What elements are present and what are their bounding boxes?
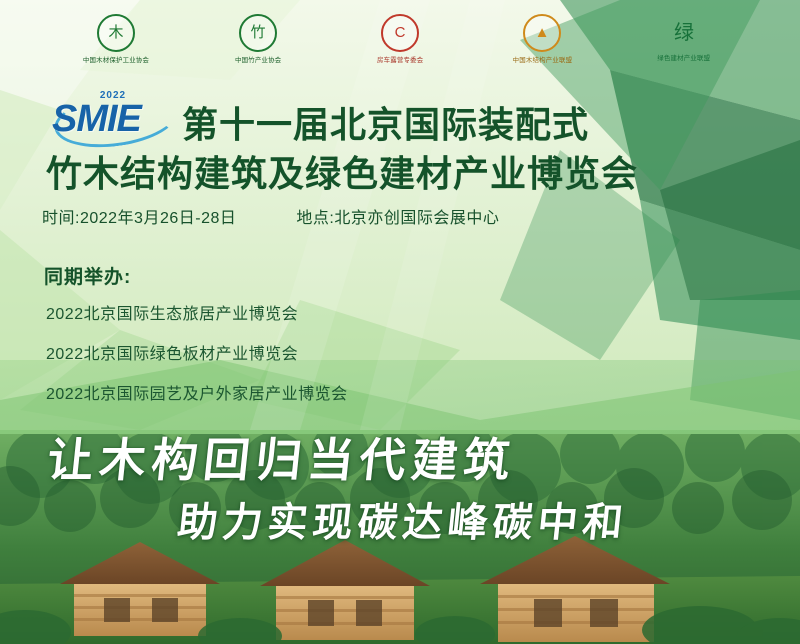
association-logo-bar: 木 中国木材保护工业协会 竹 中国竹产业协会 C 房车露营专委会 ▲ 中国木结构…	[0, 8, 800, 70]
timber-icon: 木	[97, 14, 135, 52]
event-meta: 时间:2022年3月26日-28日 地点:北京亦创国际会展中心	[42, 204, 499, 228]
logo-caption: 中国木材保护工业协会	[83, 55, 149, 64]
emblem-wordmark: SMIE	[52, 98, 141, 141]
poster-title-line-1: 第十一届北京国际装配式	[182, 96, 589, 148]
event-place: 地点:北京亦创国际会展中心	[296, 204, 499, 228]
logo-caption: 绿色建材产业联盟	[657, 53, 710, 62]
list-item: 2022北京国际绿色板材产业博览会	[46, 340, 348, 364]
list-item: 2022北京国际生态旅居产业博览会	[46, 300, 348, 324]
logo-china-timber-association: 木 中国木材保护工业协会	[68, 14, 164, 65]
concurrent-events-heading: 同期举办:	[44, 262, 131, 289]
slogan-line-1: 让木构回归当代建筑	[45, 424, 520, 490]
logo-bamboo-association: 竹 中国竹产业协会	[210, 14, 306, 65]
event-time: 时间:2022年3月26日-28日	[42, 204, 236, 228]
leaf-icon: 绿	[667, 16, 701, 50]
slogan-line-2: 助力实现碳达峰碳中和	[175, 490, 631, 548]
logo-cwsa: ▲ 中国木结构产业联盟	[494, 14, 590, 65]
smie-emblem: 2022 SMIE	[52, 92, 174, 144]
caravan-icon: C	[381, 14, 419, 52]
logo-cabcdc: C 房车露营专委会	[352, 14, 448, 65]
logo-caption: 房车露营专委会	[377, 55, 423, 64]
list-item: 2022北京国际园艺及户外家居产业博览会	[46, 380, 348, 404]
logo-green-building: 绿 绿色建材产业联盟	[636, 16, 732, 63]
poster-title-line-2: 竹木结构建筑及绿色建材产业博览会	[46, 145, 638, 197]
exhibition-poster: 木 中国木材保护工业协会 竹 中国竹产业协会 C 房车露营专委会 ▲ 中国木结构…	[0, 0, 800, 644]
house-icon: ▲	[523, 14, 561, 52]
bamboo-icon: 竹	[239, 14, 277, 52]
concurrent-events-list: 2022北京国际生态旅居产业博览会 2022北京国际绿色板材产业博览会 2022…	[46, 300, 348, 404]
logo-caption: 中国竹产业协会	[235, 55, 281, 64]
logo-caption: 中国木结构产业联盟	[512, 55, 572, 64]
